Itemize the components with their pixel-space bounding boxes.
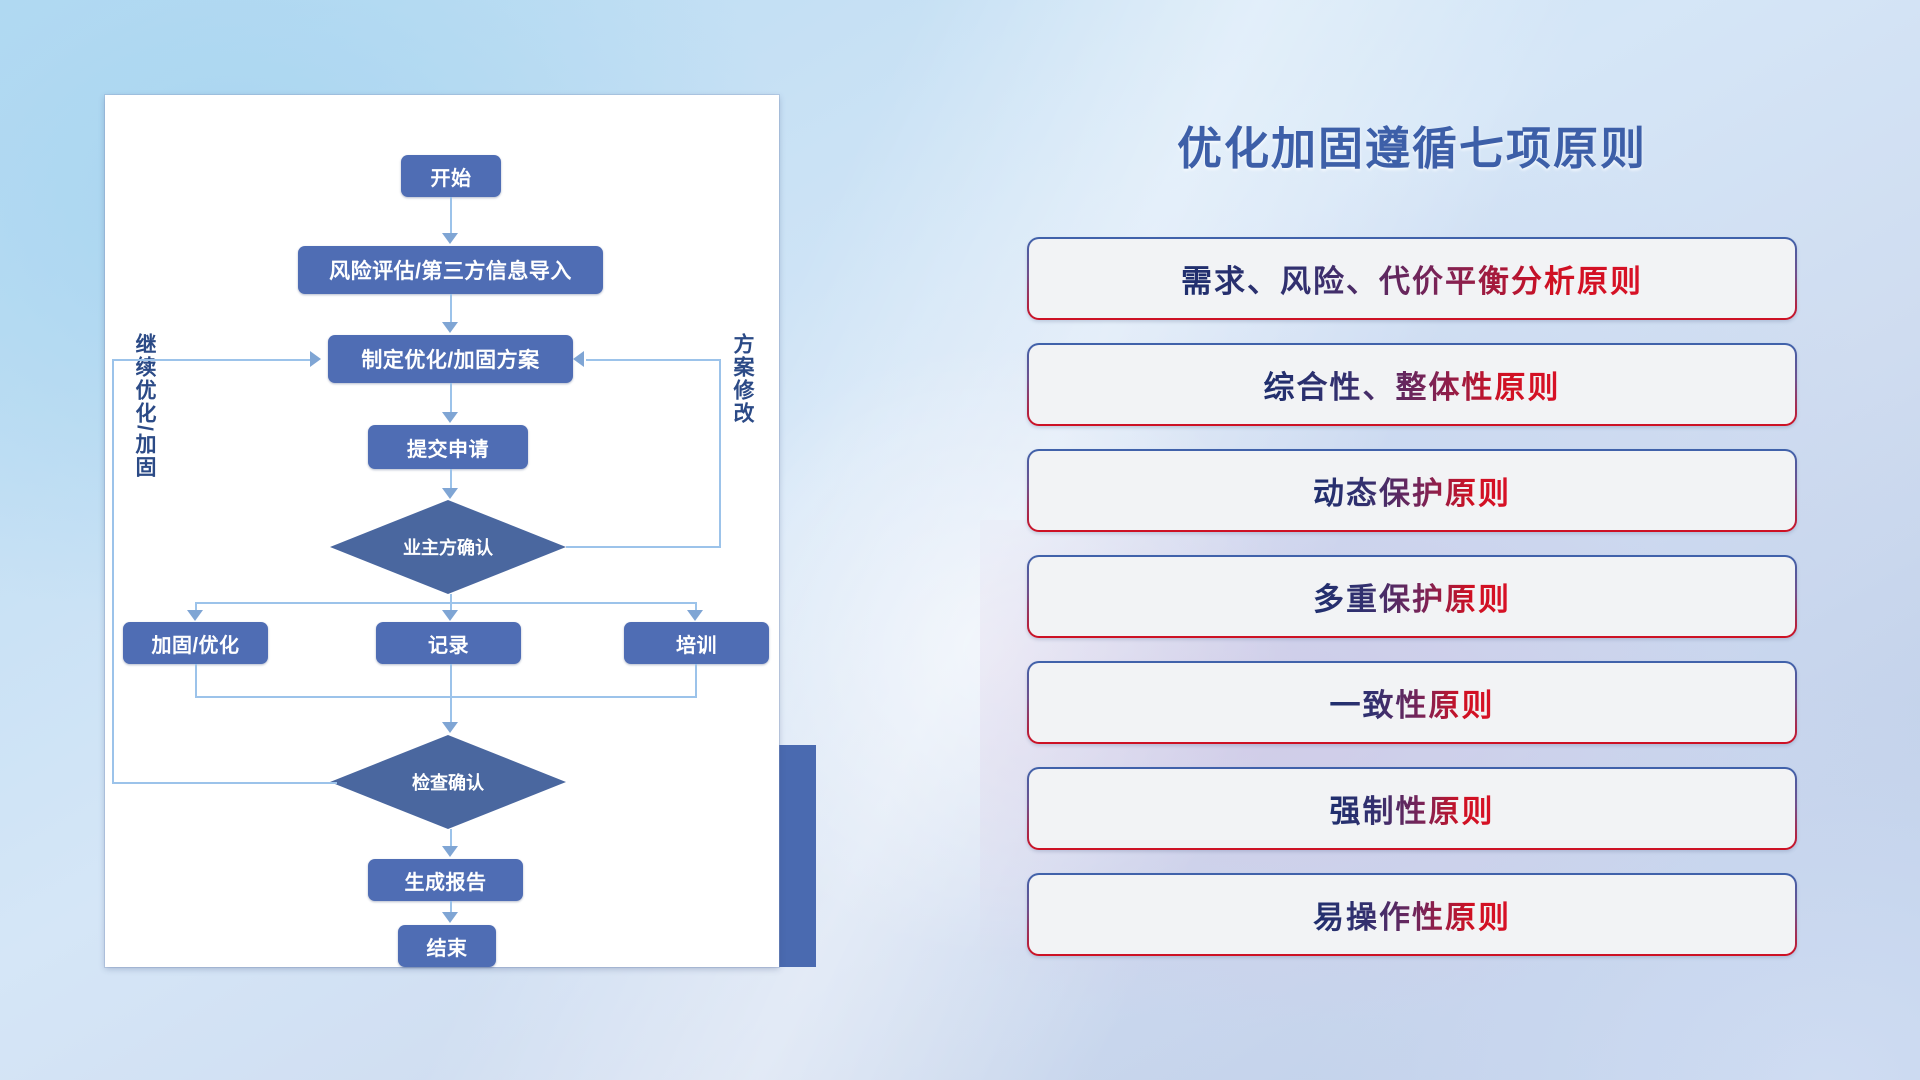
principle-item-label: 易操作性原则	[1313, 892, 1511, 937]
flow-decision-owner-confirm[interactable]: 业主方确认	[330, 500, 566, 594]
principle-item-label: 综合性、整体性原则	[1264, 362, 1561, 407]
flowchart-card: 开始 风险评估/第三方信息导入 制定优化/加固方案 提交申请 业主方确认 加固/…	[105, 95, 779, 967]
arrow-branch-to-training	[687, 610, 703, 621]
slide-canvas: 开始 风险评估/第三方信息导入 制定优化/加固方案 提交申请 业主方确认 加固/…	[0, 0, 1920, 1080]
flow-edge-label-right-loop-text: 方案修改	[731, 333, 754, 425]
arrow-start-to-risk	[442, 233, 458, 244]
flow-node-end[interactable]: 结束	[398, 925, 496, 967]
flow-node-start[interactable]: 开始	[401, 155, 501, 197]
right-panel-title: 优化加固遵循七项原则	[1027, 112, 1797, 177]
connector-merge-to-check	[450, 664, 452, 726]
principle-item-label: 需求、风险、代价平衡分析原则	[1181, 256, 1643, 301]
connector-left-to-plan	[112, 359, 312, 361]
flow-node-gen-report[interactable]: 生成报告	[368, 859, 523, 901]
connector-submit-to-owner	[450, 469, 452, 490]
principle-item[interactable]: 一致性原则	[1027, 661, 1797, 744]
flow-edge-label-left-loop-text: 继续优化/加固	[133, 333, 156, 479]
principles-list: 需求、风险、代价平衡分析原则 综合性、整体性原则 动态保护原则 多重保护原则 一…	[1027, 237, 1797, 979]
arrow-check-to-report	[442, 846, 458, 857]
principle-item[interactable]: 需求、风险、代价平衡分析原则	[1027, 237, 1797, 320]
principle-item-label: 多重保护原则	[1313, 574, 1511, 619]
connector-check-left	[112, 782, 337, 784]
principle-item[interactable]: 多重保护原则	[1027, 555, 1797, 638]
connector-merge-bus	[195, 696, 697, 698]
arrow-report-to-end	[442, 912, 458, 923]
flow-edge-label-left-loop: 继续优化/加固	[129, 333, 159, 479]
connector-start-to-risk	[450, 197, 452, 235]
flow-node-training-label: 培训	[676, 629, 717, 658]
connector-risk-to-plan	[450, 294, 452, 324]
connector-right-to-plan	[586, 359, 721, 361]
connector-plan-to-submit	[450, 383, 452, 414]
flow-decision-owner-confirm-label: 业主方确认	[403, 534, 493, 560]
principle-item[interactable]: 强制性原则	[1027, 767, 1797, 850]
arrow-plan-to-submit	[442, 412, 458, 423]
arrow-merge-to-check	[442, 722, 458, 733]
connector-reinforce-down	[195, 664, 197, 698]
connector-branch-bus	[195, 602, 697, 604]
arrow-submit-to-owner	[442, 488, 458, 499]
arrow-risk-to-plan	[442, 322, 458, 333]
flow-node-record[interactable]: 记录	[376, 622, 521, 664]
principle-item[interactable]: 易操作性原则	[1027, 873, 1797, 956]
flow-node-reinforce[interactable]: 加固/优化	[123, 622, 268, 664]
connector-training-down	[695, 664, 697, 698]
principle-item[interactable]: 综合性、整体性原则	[1027, 343, 1797, 426]
arrow-left-loop-to-plan	[310, 351, 321, 367]
flow-node-submit-label: 提交申请	[407, 433, 489, 462]
flow-node-start-label: 开始	[431, 162, 472, 191]
flow-node-record-label: 记录	[428, 629, 469, 658]
flow-node-risk-assess-label: 风险评估/第三方信息导入	[329, 255, 572, 285]
flow-node-reinforce-label: 加固/优化	[151, 629, 239, 658]
principle-item-label: 强制性原则	[1330, 786, 1495, 831]
arrow-right-loop-to-plan	[573, 351, 584, 367]
flow-decision-check-confirm[interactable]: 检查确认	[330, 735, 566, 829]
flow-edge-label-right-loop: 方案修改	[727, 333, 757, 425]
flow-decision-check-confirm-label: 检查确认	[412, 769, 484, 795]
connector-right-up	[719, 359, 721, 547]
arrow-branch-to-reinforce	[187, 610, 203, 621]
principle-item-label: 动态保护原则	[1313, 468, 1511, 513]
flow-node-gen-report-label: 生成报告	[405, 866, 487, 895]
flow-node-risk-assess[interactable]: 风险评估/第三方信息导入	[298, 246, 603, 294]
connector-owner-right	[566, 546, 721, 548]
flow-node-make-plan[interactable]: 制定优化/加固方案	[328, 335, 573, 383]
arrow-owner-to-record	[442, 610, 458, 621]
flow-node-submit[interactable]: 提交申请	[368, 425, 528, 469]
flow-node-end-label: 结束	[427, 932, 468, 961]
principle-item[interactable]: 动态保护原则	[1027, 449, 1797, 532]
connector-left-up	[112, 359, 114, 783]
principle-item-label: 一致性原则	[1330, 680, 1495, 725]
flow-node-make-plan-label: 制定优化/加固方案	[361, 344, 539, 374]
flow-node-training[interactable]: 培训	[624, 622, 769, 664]
